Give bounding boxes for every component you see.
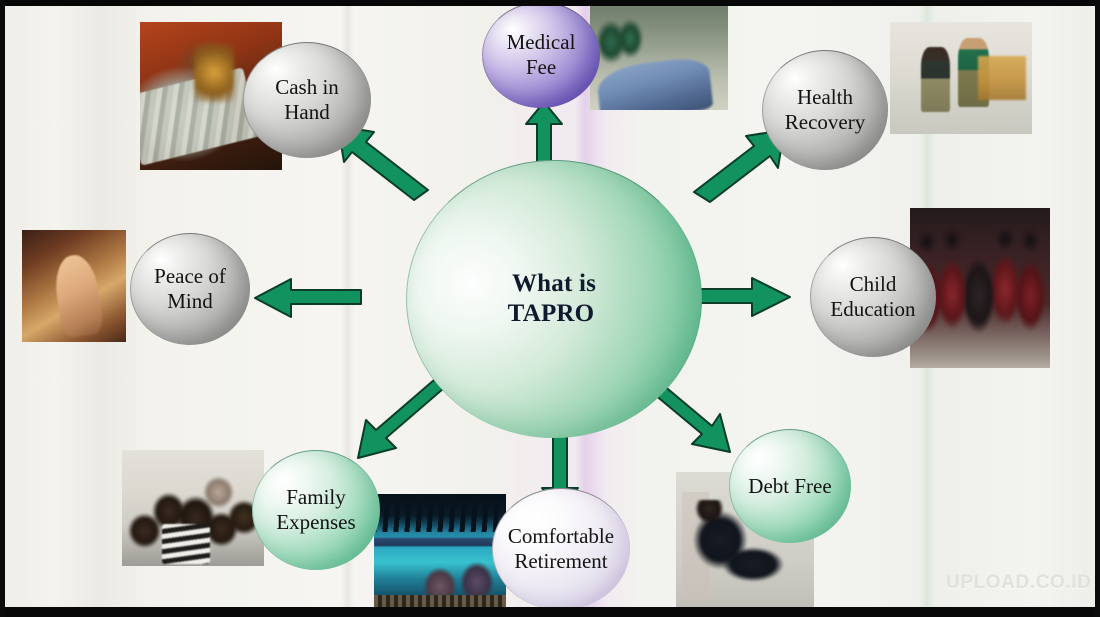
praying-child-photo bbox=[22, 230, 126, 342]
node-health-recovery[interactable]: Health Recovery bbox=[762, 50, 888, 170]
node-peace-of-mind[interactable]: Peace of Mind bbox=[130, 233, 250, 345]
frame-edge-top bbox=[0, 0, 1100, 6]
slide-canvas: What is TAPRO Cash in Hand Medical Fee H… bbox=[0, 0, 1100, 617]
node-family-expenses[interactable]: Family Expenses bbox=[252, 450, 380, 570]
node-comfortable-retirement[interactable]: Comfortable Retirement bbox=[492, 488, 630, 610]
family-group-photo bbox=[122, 450, 264, 566]
node-medical-fee-label: Medical Fee bbox=[501, 30, 582, 80]
node-child-education-label: Child Education bbox=[824, 272, 921, 322]
center-node-label-line2: TAPRO bbox=[508, 299, 595, 330]
watermark: UPLOAD.CO.ID bbox=[946, 572, 1091, 594]
node-debt-free[interactable]: Debt Free bbox=[729, 429, 851, 543]
node-family-expenses-label: Family Expenses bbox=[270, 485, 361, 535]
node-cash-in-hand[interactable]: Cash in Hand bbox=[243, 42, 371, 158]
frame-edge-bottom bbox=[0, 607, 1100, 617]
node-comfortable-retirement-label: Comfortable Retirement bbox=[502, 524, 620, 574]
node-medical-fee[interactable]: Medical Fee bbox=[482, 2, 600, 108]
node-cash-in-hand-label: Cash in Hand bbox=[269, 75, 345, 125]
center-node-label-line1: What is bbox=[512, 269, 596, 300]
node-peace-of-mind-label: Peace of Mind bbox=[148, 264, 232, 314]
rehab-equipment bbox=[978, 56, 1026, 101]
center-node-what-is-tapro[interactable]: What is TAPRO bbox=[406, 160, 702, 438]
node-debt-free-label: Debt Free bbox=[742, 474, 837, 499]
frame-edge-right bbox=[1095, 0, 1100, 617]
frame-edge-left bbox=[0, 0, 5, 617]
hospital-emergency-room-photo bbox=[590, 0, 728, 110]
node-health-recovery-label: Health Recovery bbox=[779, 85, 871, 135]
physical-therapy-rehab-photo bbox=[890, 22, 1032, 134]
node-child-education[interactable]: Child Education bbox=[810, 237, 936, 357]
center-node-label: What is TAPRO bbox=[406, 160, 702, 438]
tropical-resort-cruise-photo bbox=[374, 494, 506, 612]
